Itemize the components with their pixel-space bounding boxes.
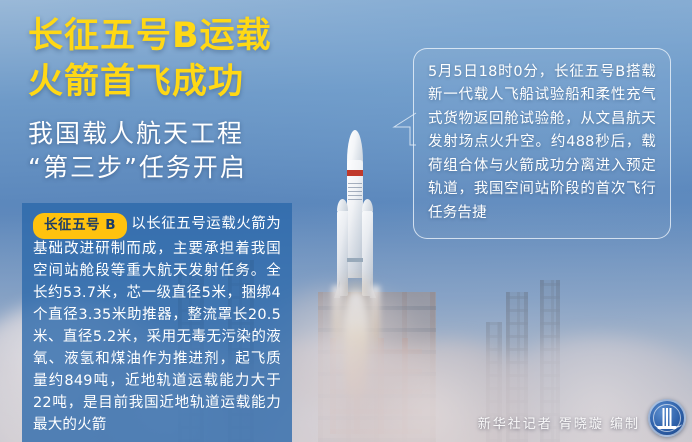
infographic-poster: 长征五号B运载 火箭首飞成功 我国载人航天工程 “第三步”任务开启 长征五号 B… [0,0,692,442]
credit-line: 新华社记者 胥晓璇 编制 [478,413,640,432]
callout-pointer-icon [384,111,416,147]
subheadline-line-2: “第三步”任务开启 [28,151,358,185]
agency-logo-icon [648,399,686,437]
headline-line-2: 火箭首飞成功 [28,60,358,106]
rocket-spec-panel: 长征五号 B以长征五号运载火箭为基础改进研制而成，主要承担着我国空间站舱段等重大… [22,203,292,442]
logo-arc [654,419,682,429]
subheadline-block: 我国载人航天工程 “第三步”任务开启 [28,117,358,185]
rocket-spec-body: 以长征五号运载火箭为基础改进研制而成，主要承担着我国空间站舱段等重大航天发射任务… [33,216,281,433]
launch-event-text: 5月5日18时0分，长征五号B搭载新一代载人飞船试验船和柔性充气式货物返回舱试验… [428,61,656,225]
rocket-spec-text: 长征五号 B以长征五号运载火箭为基础改进研制而成，主要承担着我国空间站舱段等重大… [33,212,281,436]
headline-block: 长征五号B运载 火箭首飞成功 我国载人航天工程 “第三步”任务开启 [28,14,358,185]
rocket-name-badge: 长征五号 B [33,213,127,239]
headline-line-1: 长征五号B运载 [28,14,358,60]
launch-event-callout: 5月5日18时0分，长征五号B搭载新一代载人飞船试验船和柔性充气式货物返回舱试验… [413,48,671,239]
subheadline-line-1: 我国载人航天工程 [28,117,358,151]
